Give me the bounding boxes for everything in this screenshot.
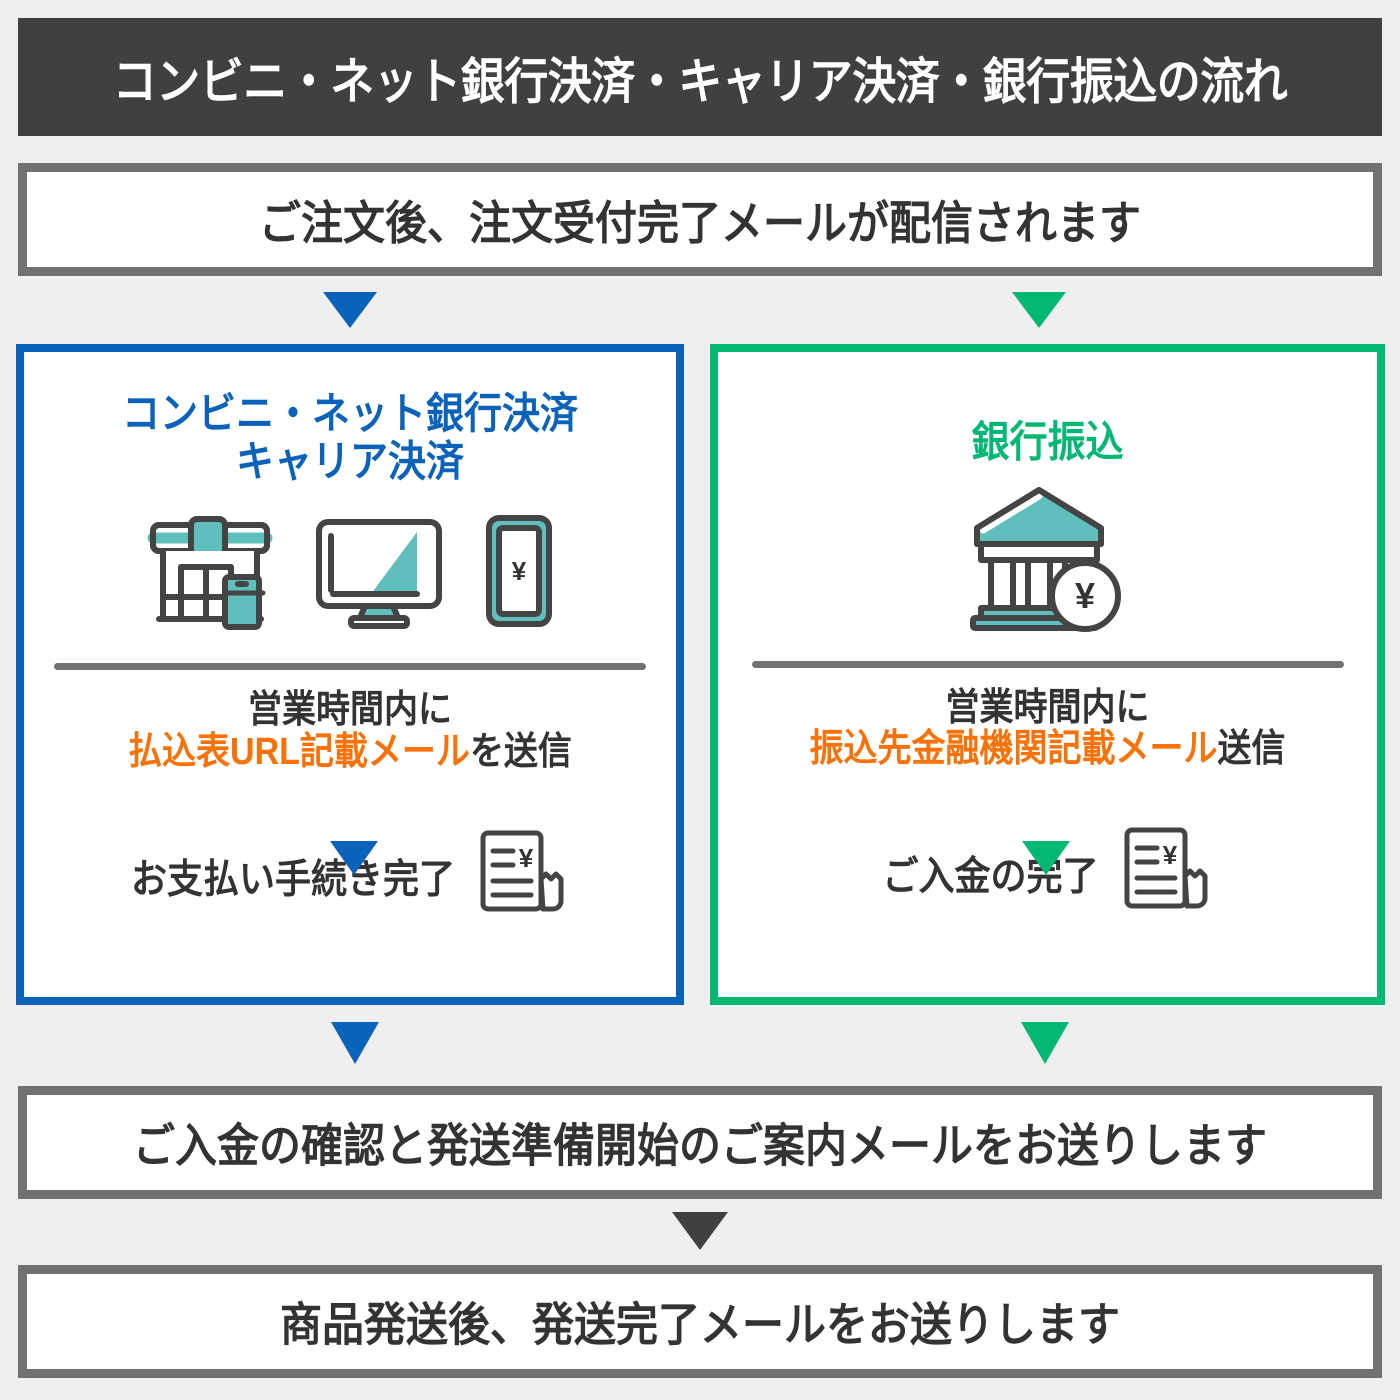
method-icon-row-conveni: ¥	[24, 515, 676, 635]
panel-divider-bank	[752, 661, 1344, 668]
step-order-notice-text: ご注文後、注文受付完了メールが配信されます	[259, 186, 1141, 253]
receipt-yen-icon: ¥	[469, 827, 569, 924]
method-note-line1-bank: 営業時間内に	[718, 685, 1377, 731]
desktop-monitor-icon	[313, 514, 445, 635]
step-payment-confirmed-text: ご入金の確認と発送準備開始のご案内メールをお送りします	[133, 1109, 1267, 1176]
down-arrow-conveni-inner-icon	[330, 841, 378, 875]
method-note-highlight-conveni: 払込表URL記載メール	[128, 730, 470, 773]
smartphone-yen-icon: ¥	[483, 512, 555, 635]
down-arrow-to-bank-icon	[1012, 292, 1066, 328]
method-note-suffix-bank: 送信	[1218, 728, 1286, 771]
receipt-yen-icon: ¥	[1113, 824, 1213, 921]
method-note-bank: 営業時間内に 振込先金融機関記載メール送信	[718, 688, 1377, 771]
down-arrow-bank-out-icon	[1021, 1022, 1069, 1064]
method-note-line2-bank: 振込先金融機関記載メール送信	[718, 727, 1377, 773]
method-note-conveni: 営業時間内に 払込表URL記載メールを送信	[24, 690, 676, 773]
step-shipped-box: 商品発送後、発送完了メールをお送りします	[18, 1265, 1382, 1378]
page-title-bar: コンビニ・ネット銀行決済・キャリア決済・銀行振込の流れ	[18, 18, 1382, 136]
method-panel-conveni: コンビニ・ネット銀行決済 キャリア決済	[16, 344, 684, 1005]
step-order-notice-box: ご注文後、注文受付完了メールが配信されます	[18, 163, 1382, 276]
svg-text:¥: ¥	[1074, 575, 1094, 616]
down-arrow-conveni-out-icon	[331, 1022, 379, 1064]
svg-text:¥: ¥	[519, 843, 534, 873]
step-shipped-text: 商品発送後、発送完了メールをお送りします	[280, 1288, 1120, 1355]
down-arrow-bank-inner-icon	[1022, 841, 1070, 875]
method-panel-bank: 銀行振込	[710, 344, 1385, 1005]
page-title: コンビニ・ネット銀行決済・キャリア決済・銀行振込の流れ	[113, 41, 1288, 113]
method-icon-row-bank: ¥	[718, 491, 1377, 639]
method-note-line1-conveni: 営業時間内に	[24, 688, 676, 734]
method-completion-text-conveni: お支払い手続き完了	[131, 847, 455, 904]
method-note-line2-conveni: 払込表URL記載メールを送信	[24, 729, 676, 775]
method-note-suffix-conveni: を送信	[470, 730, 572, 773]
bank-building-yen-icon: ¥	[963, 482, 1133, 639]
step-payment-confirmed-box: ご入金の確認と発送準備開始のご案内メールをお送りします	[18, 1086, 1382, 1199]
convenience-store-icon	[145, 515, 275, 635]
down-arrow-to-shipped-icon	[672, 1212, 728, 1250]
panel-divider-conveni	[54, 663, 646, 670]
svg-text:¥: ¥	[1162, 840, 1177, 870]
down-arrow-to-conveni-icon	[323, 292, 377, 328]
method-heading-conveni: コンビニ・ネット銀行決済 キャリア決済	[24, 391, 676, 486]
svg-text:¥: ¥	[512, 556, 527, 586]
method-heading-bank: 銀行振込	[718, 419, 1377, 467]
method-note-highlight-bank: 振込先金融機関記載メール	[810, 728, 1218, 771]
